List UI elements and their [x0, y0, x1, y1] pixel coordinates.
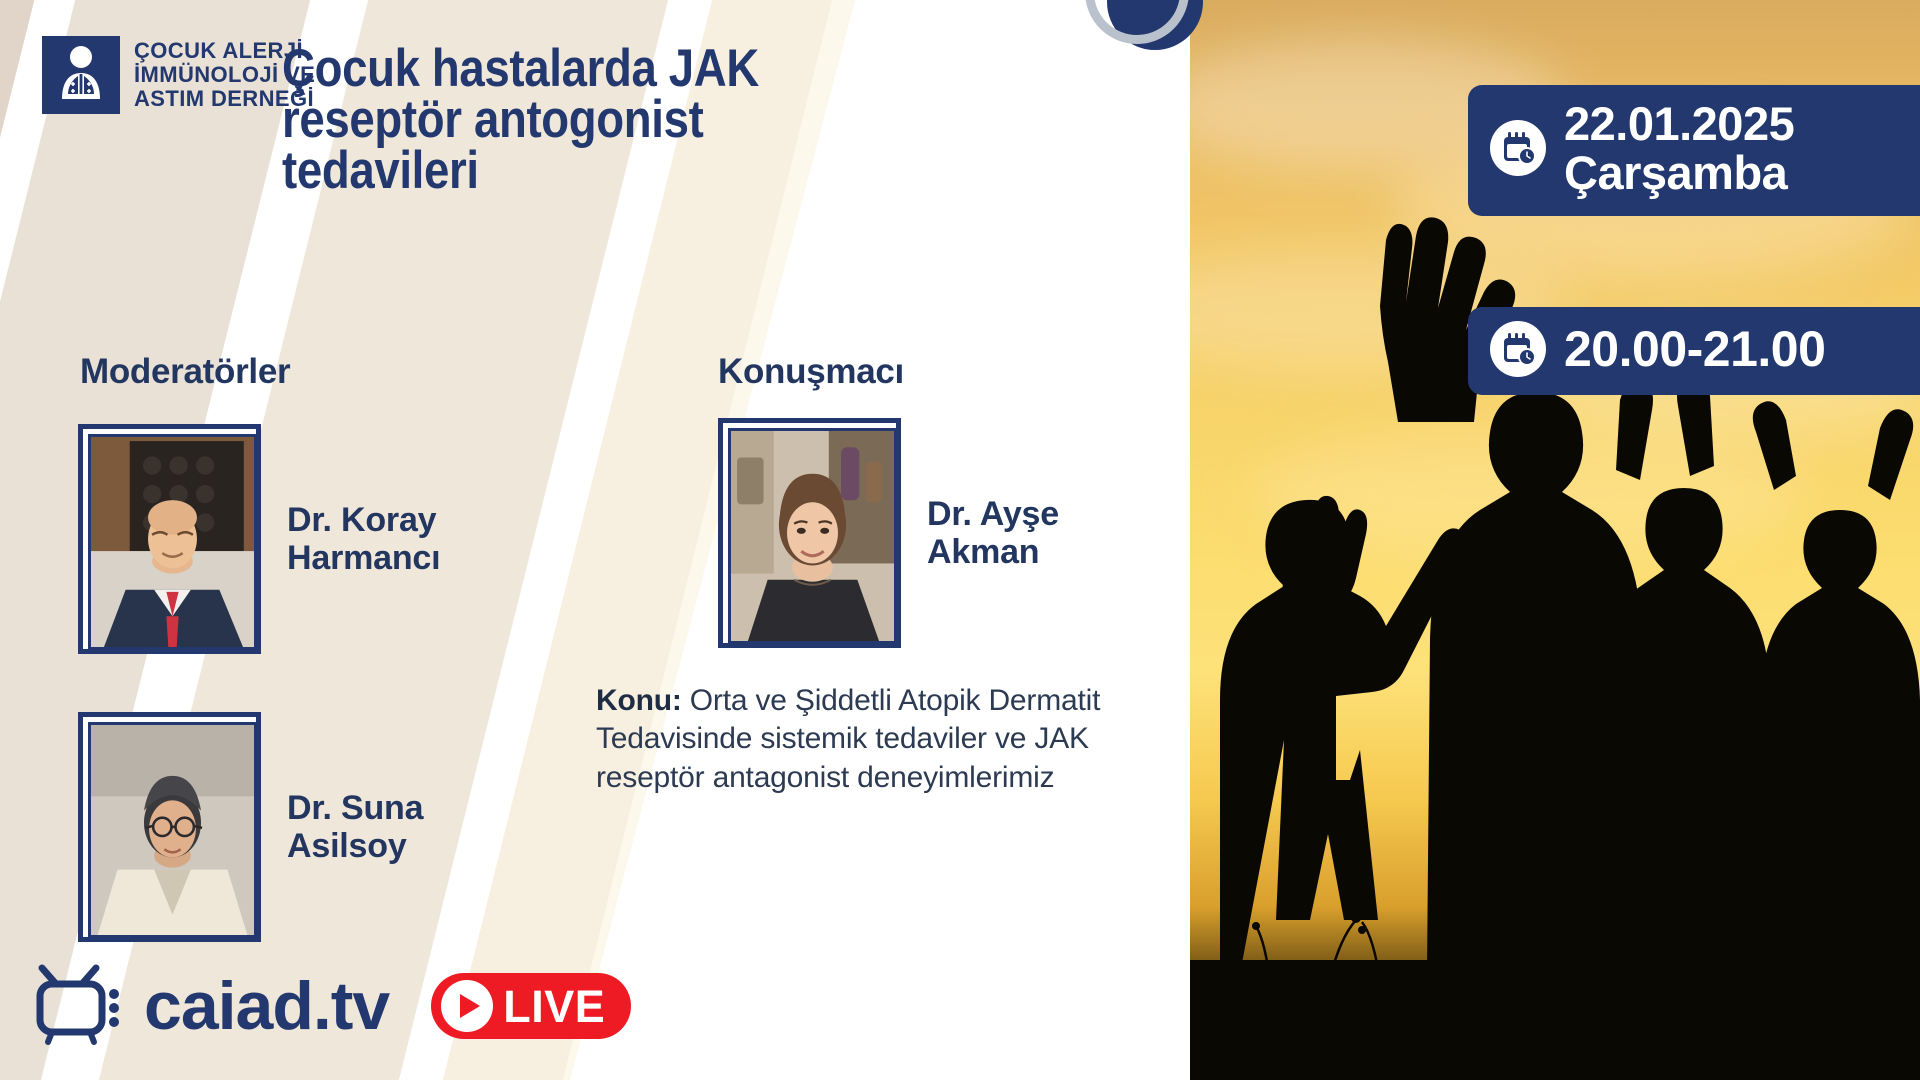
- play-icon: [441, 980, 493, 1032]
- moderator-name: Dr. Suna Asilsoy: [287, 789, 423, 866]
- webinar-poster: ÇOCUK ALERJİ İMMÜNOLOJİ VE ASTIM DERNEĞİ…: [0, 0, 1920, 1080]
- calendar-clock-icon: [1490, 321, 1546, 377]
- date-badge: 22.01.2025 Çarşamba: [1468, 85, 1920, 216]
- speaker-name: Dr. Ayşe Akman: [927, 495, 1059, 572]
- left-content-panel: ÇOCUK ALERJİ İMMÜNOLOJİ VE ASTIM DERNEĞİ…: [0, 0, 1190, 1080]
- moderator-name: Dr. Koray Harmancı: [287, 501, 440, 578]
- calendar-clock-icon: [1490, 120, 1546, 176]
- time-text: 20.00-21.00: [1564, 323, 1825, 376]
- page-title: Çocuk hastalarda JAK reseptör antogonist…: [282, 44, 884, 197]
- speaker-card: Dr. Ayşe Akman: [718, 418, 1059, 648]
- lungs-person-icon: [42, 36, 120, 114]
- topic-text: Konu: Orta ve Şiddetli Atopik Dermatit T…: [596, 682, 1190, 797]
- avatar: [88, 722, 257, 938]
- moderators-heading: Moderatörler: [80, 352, 290, 392]
- topic-label: Konu:: [596, 684, 682, 717]
- decorative-circle: [1085, 0, 1205, 74]
- avatar: [88, 434, 257, 650]
- portrait-frame: [718, 418, 901, 648]
- moderator-card-2: Dr. Suna Asilsoy: [78, 712, 423, 942]
- live-label: LIVE: [503, 984, 605, 1029]
- brand-name: caiad.tv: [144, 972, 389, 1040]
- date-text: 22.01.2025 Çarşamba: [1564, 99, 1794, 198]
- portrait-frame: [78, 424, 261, 654]
- moderator-card-1: Dr. Koray Harmancı: [78, 424, 440, 654]
- organization-logo: ÇOCUK ALERJİ İMMÜNOLOJİ VE ASTIM DERNEĞİ: [42, 36, 315, 114]
- portrait-frame: [78, 712, 261, 942]
- speaker-heading: Konuşmacı: [718, 352, 904, 392]
- television-icon: [34, 962, 130, 1050]
- live-badge[interactable]: LIVE: [431, 973, 631, 1039]
- avatar: [728, 428, 897, 644]
- footer-brand: caiad.tv LIVE: [34, 962, 631, 1050]
- time-badge: 20.00-21.00: [1468, 307, 1920, 395]
